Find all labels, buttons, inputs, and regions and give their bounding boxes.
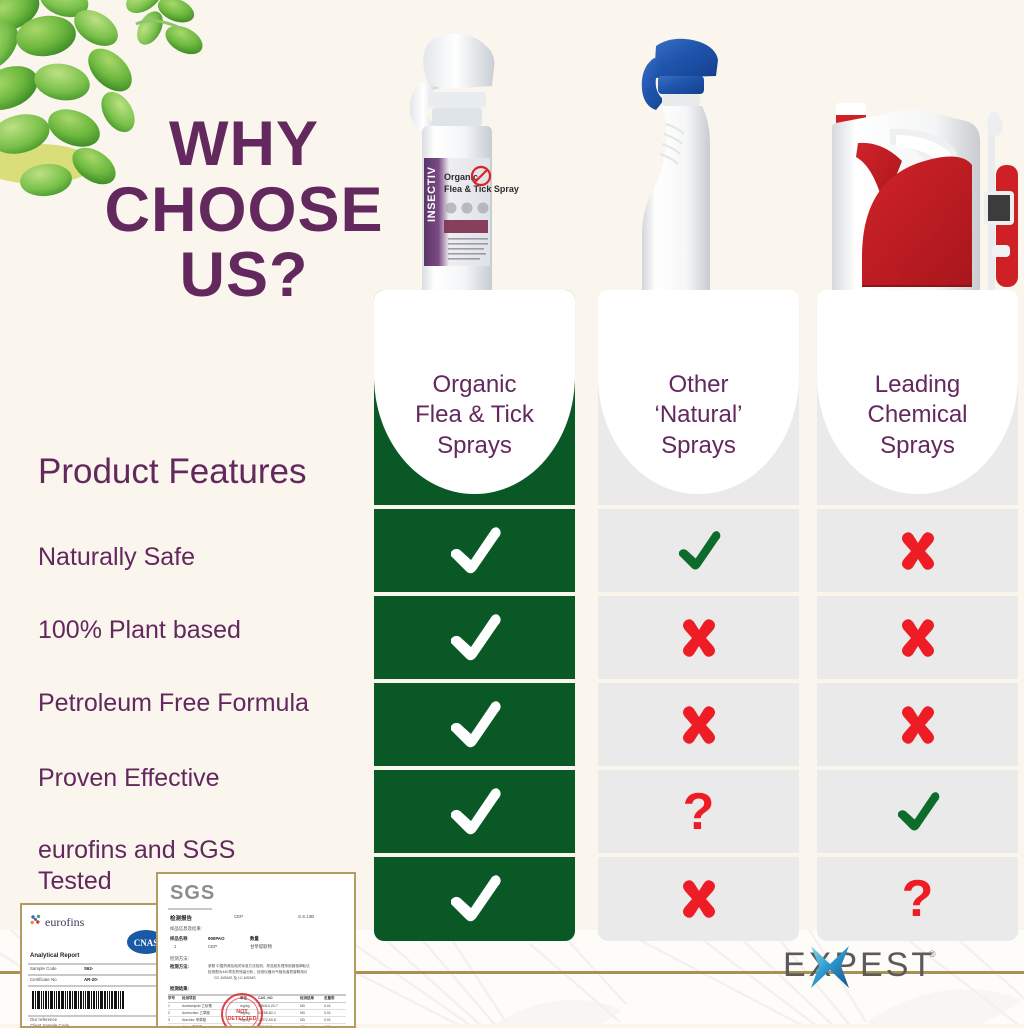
question-red-icon: ?: [902, 873, 934, 925]
comparison-column-organic: Organic Flea & Tick Sprays: [374, 290, 575, 941]
header-line-3: Sprays: [598, 431, 799, 461]
page-title-line-3: US?: [104, 243, 384, 309]
eurofins-barcode: [32, 991, 124, 1009]
svg-text:NOT: NOT: [236, 1009, 248, 1015]
header-line-3: Sprays: [374, 431, 575, 461]
header-line-3: Sprays: [817, 431, 1018, 461]
eurofins-brand-label: eurofins: [45, 915, 84, 930]
check-green-icon: [674, 529, 724, 573]
cell-organic-petroleum-free: [374, 683, 575, 766]
brand-logo-expest: EXPEST ®: [783, 946, 943, 988]
question-red-icon: ?: [683, 786, 715, 838]
cell-other-naturally-safe: [598, 509, 799, 592]
check-white-icon: [445, 873, 505, 925]
sgs-col-header-5: 定量限: [324, 996, 344, 1001]
cross-red-icon: [677, 877, 721, 921]
eurofins-field-label-1: Certificate No: [30, 977, 57, 982]
eurofins-report-title: Analytical Report: [30, 953, 79, 959]
feature-label-proven-effective: Proven Effective: [38, 763, 368, 794]
eurofins-field-value-1: AR-20-: [84, 977, 98, 982]
cell-other-plant-based: [598, 596, 799, 679]
column-header-leading-chemical: Leading Chemical Sprays: [817, 290, 1018, 505]
column-header-label-organic: Organic Flea & Tick Sprays: [374, 370, 575, 461]
cell-organic-proven-effective: [374, 770, 575, 853]
eurofins-field-value-0: S62-: [84, 966, 93, 971]
sgs-brand-label: SGS: [170, 882, 215, 905]
sgs-col-header-4: 检测结果: [300, 996, 324, 1001]
cell-other-proven-effective: ?: [598, 770, 799, 853]
feature-label-plant-based: 100% Plant based: [38, 615, 368, 646]
brand-logo-x-icon: [807, 944, 853, 995]
eurofins-logo-icon: [30, 913, 42, 931]
column-header-label-other-natural: Other ‘Natural’ Sprays: [598, 370, 799, 461]
brand-logo-registered-mark: ®: [929, 949, 936, 959]
header-line-2: ‘Natural’: [598, 400, 799, 430]
svg-text:CNAS: CNAS: [134, 938, 159, 948]
comparison-column-leading-chemical: Leading Chemical Sprays: [817, 290, 1018, 941]
page-title-line-2: CHOOSE: [104, 178, 384, 244]
cell-organic-naturally-safe: [374, 509, 575, 592]
comparison-column-other-natural: Other ‘Natural’ Sprays: [598, 290, 799, 941]
cross-red-icon: [677, 703, 721, 747]
cell-organic-plant-based: [374, 596, 575, 679]
header-line-1: Leading: [817, 370, 1018, 400]
column-header-label-leading-chemical: Leading Chemical Sprays: [817, 370, 1018, 461]
sgs-not-detected-stamp: NOT DETECTED: [220, 992, 264, 1028]
features-heading: Product Features: [38, 452, 306, 492]
cross-red-icon: [896, 703, 940, 747]
cell-other-petroleum-free: [598, 683, 799, 766]
cell-chemical-petroleum-free: [817, 683, 1018, 766]
certificate-sgs-report: SGS 检测报告 CEP S.S.13B 样品信息及结果: 样品名称 900PA…: [156, 872, 356, 1028]
check-white-icon: [445, 786, 505, 838]
cell-chemical-plant-based: [817, 596, 1018, 679]
check-white-icon: [445, 699, 505, 751]
infographic-canvas: WHY CHOOSE US? Product Features Naturall…: [0, 0, 1024, 1024]
cross-red-icon: [896, 529, 940, 573]
eurofins-field-label-0: Sample Code: [30, 966, 57, 971]
check-white-icon: [445, 612, 505, 664]
page-title-line-1: WHY: [104, 112, 384, 178]
column-header-other-natural: Other ‘Natural’ Sprays: [598, 290, 799, 505]
sgs-col-header-3: CAS_NO: [258, 996, 300, 1001]
page-title: WHY CHOOSE US?: [104, 112, 384, 309]
cell-chemical-proven-effective: [817, 770, 1018, 853]
header-line-2: Chemical: [817, 400, 1018, 430]
header-line-2: Flea & Tick: [374, 400, 575, 430]
sgs-col-header-0: 序号: [168, 996, 182, 1001]
cross-red-icon: [896, 616, 940, 660]
svg-text:DETECTED: DETECTED: [227, 1016, 256, 1022]
svg-text:INSECTIV: INSECTIV: [426, 166, 438, 222]
header-line-1: Organic: [374, 370, 575, 400]
cell-other-eurofins-sgs-tested: [598, 857, 799, 941]
check-green-icon: [893, 790, 943, 834]
cell-organic-eurofins-sgs-tested: [374, 857, 575, 941]
feature-label-naturally-safe: Naturally Safe: [38, 542, 368, 573]
column-header-organic: Organic Flea & Tick Sprays: [374, 290, 575, 505]
check-white-icon: [445, 525, 505, 577]
cross-red-icon: [677, 616, 721, 660]
feature-label-petroleum-free: Petroleum Free Formula: [38, 688, 368, 719]
brand-logo-wordmark: EXPEST: [783, 946, 935, 985]
cell-chemical-naturally-safe: [817, 509, 1018, 592]
cell-chemical-eurofins-sgs-tested: ?: [817, 857, 1018, 941]
header-line-1: Other: [598, 370, 799, 400]
eurofins-footer-field-0: Our reference: [30, 1017, 57, 1022]
